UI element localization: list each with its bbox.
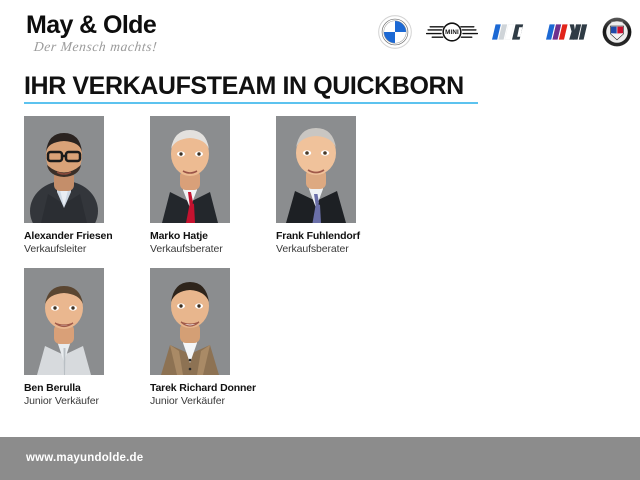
team-grid: Alexander Friesen Verkaufsleiter bbox=[24, 116, 624, 408]
marque-logo-strip: MINI bbox=[378, 14, 632, 54]
team-member-card[interactable]: Frank Fuhlendorf Verkaufsberater bbox=[276, 116, 402, 256]
team-member-card[interactable]: Alexander Friesen Verkaufsleiter bbox=[24, 116, 150, 256]
member-role: Verkaufsberater bbox=[276, 243, 402, 256]
svg-text:MINI: MINI bbox=[445, 29, 459, 36]
team-row: Ben Berulla Junior Verkäufer bbox=[24, 268, 624, 408]
brand-name: May & Olde bbox=[26, 12, 226, 38]
footer-website-url[interactable]: www.mayundolde.de bbox=[26, 452, 143, 464]
member-role: Verkaufsberater bbox=[150, 243, 276, 256]
bmw-i-stripes-icon bbox=[492, 22, 532, 47]
member-name: Tarek Richard Donner bbox=[150, 382, 276, 395]
member-name: Frank Fuhlendorf bbox=[276, 230, 402, 243]
portrait-photo bbox=[150, 116, 230, 223]
bmw-m-stripes-icon bbox=[546, 22, 588, 47]
member-name: Alexander Friesen bbox=[24, 230, 150, 243]
portrait-photo bbox=[24, 116, 104, 223]
team-member-card[interactable]: Marko Hatje Verkaufsberater bbox=[150, 116, 276, 256]
svg-text:ALPINA: ALPINA bbox=[611, 21, 624, 25]
portrait-photo bbox=[150, 268, 230, 375]
team-row: Alexander Friesen Verkaufsleiter bbox=[24, 116, 624, 256]
bmw-roundel-icon bbox=[378, 15, 412, 54]
page-header: May & Olde Der Mensch machts! bbox=[0, 0, 640, 66]
member-role: Verkaufsleiter bbox=[24, 243, 150, 256]
team-member-card[interactable]: Tarek Richard Donner Junior Verkäufer bbox=[150, 268, 276, 408]
portrait-photo bbox=[276, 116, 356, 223]
portrait-photo bbox=[24, 268, 104, 375]
title-underline bbox=[24, 102, 478, 104]
alpina-crest-icon: ALPINA bbox=[602, 17, 632, 52]
mini-wings-icon: MINI bbox=[426, 19, 478, 50]
member-role: Junior Verkäufer bbox=[24, 395, 150, 408]
member-role: Junior Verkäufer bbox=[150, 395, 276, 408]
member-name: Ben Berulla bbox=[24, 382, 150, 395]
team-member-card[interactable]: Ben Berulla Junior Verkäufer bbox=[24, 268, 150, 408]
title-block: IHR VERKAUFSTEAM IN QUICKBORN bbox=[24, 72, 616, 104]
member-name: Marko Hatje bbox=[150, 230, 276, 243]
page-footer: www.mayundolde.de bbox=[0, 437, 640, 480]
page-title: IHR VERKAUFSTEAM IN QUICKBORN bbox=[24, 72, 616, 100]
brand-logo[interactable]: May & Olde Der Mensch machts! bbox=[26, 12, 226, 58]
brand-slogan: Der Mensch machts! bbox=[33, 39, 227, 54]
